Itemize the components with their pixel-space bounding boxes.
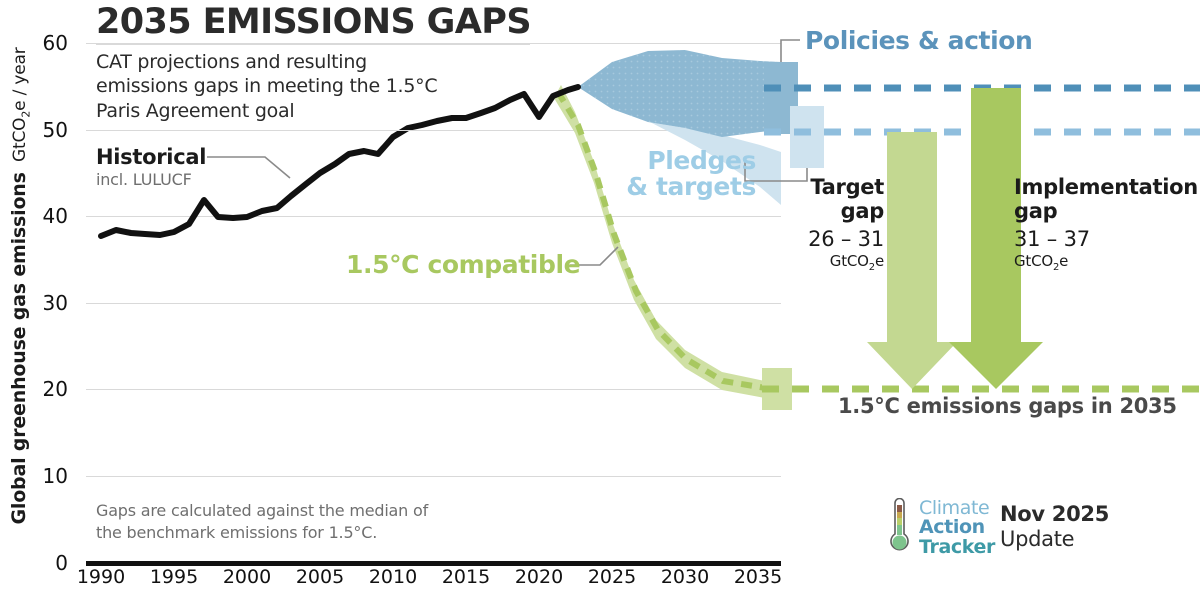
policies-action-label: Policies & action xyxy=(805,26,1032,55)
pledges-targets-label-line1: Pledges xyxy=(486,148,756,174)
implementation-gap-name-line2: gap xyxy=(1014,200,1200,224)
policies-band xyxy=(578,50,781,137)
target-gap-block: Target gap 26 – 31 GtCO2e xyxy=(792,176,884,273)
title-divider xyxy=(96,44,530,45)
page-subtitle: CAT projections and resulting emissions … xyxy=(96,50,456,123)
page-title: 2035 EMISSIONS GAPS xyxy=(96,2,531,42)
policies-leader-line xyxy=(781,40,800,62)
subtitle-divider xyxy=(96,130,530,131)
thermometer-icon xyxy=(886,498,912,558)
implementation-gap-block: Implementation gap 31 – 37 GtCO2e xyxy=(1014,176,1200,273)
target-gap-name-line2: gap xyxy=(792,200,884,224)
pledges-targets-label-line2: & targets xyxy=(486,174,756,200)
update-stamp-date: Nov 2025 xyxy=(1000,502,1109,527)
logo-word-action: Action xyxy=(919,518,995,538)
historical-sublabel: incl. LULUCF xyxy=(96,170,206,189)
historical-label: Historical xyxy=(96,145,206,169)
footnote: Gaps are calculated against the median o… xyxy=(96,500,456,543)
update-stamp: Nov 2025 Update xyxy=(1000,502,1109,552)
implementation-gap-value: 31 – 37 xyxy=(1014,227,1200,251)
target-gap-name: Target gap xyxy=(792,176,884,223)
pledges-targets-label: Pledges & targets xyxy=(486,148,756,199)
compatible-label: 1.5°C compatible xyxy=(346,250,580,279)
logo-wordmark: Climate Action Tracker xyxy=(919,499,995,558)
target-gap-unit: GtCO2e xyxy=(792,252,884,273)
climate-action-tracker-logo: Climate Action Tracker xyxy=(886,498,995,558)
implementation-gap-name: Implementation gap xyxy=(1014,176,1200,223)
target-gap-name-line1: Target xyxy=(792,176,884,200)
target-gap-value: 26 – 31 xyxy=(792,227,884,251)
implementation-gap-name-line1: Implementation xyxy=(1014,176,1200,200)
historical-annotation: Historical incl. LULUCF xyxy=(96,145,206,189)
implementation-gap-unit: GtCO2e xyxy=(1014,252,1200,273)
pledges-2035-box xyxy=(790,106,824,168)
update-stamp-label: Update xyxy=(1000,527,1109,552)
logo-word-tracker: Tracker xyxy=(919,538,995,558)
historical-leader-line xyxy=(207,157,290,178)
gaps-caption: 1.5°C emissions gaps in 2035 xyxy=(838,394,1177,418)
